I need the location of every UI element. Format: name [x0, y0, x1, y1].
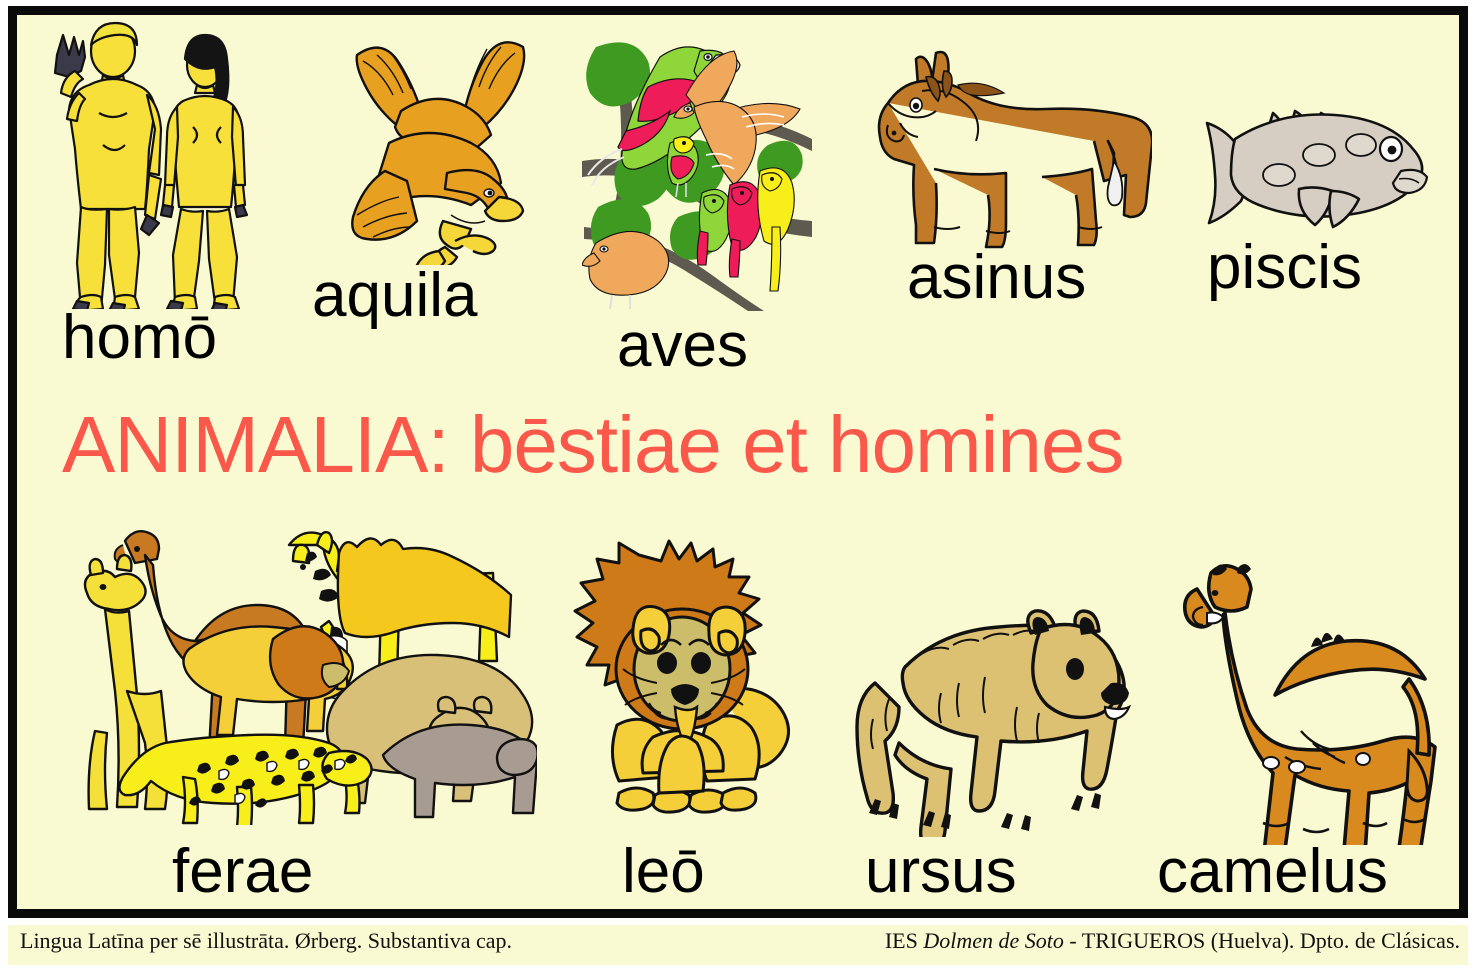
label-aves: aves [617, 315, 748, 377]
poster-frame: homō [8, 6, 1468, 918]
fish-illustration [1195, 105, 1435, 235]
birds-collage-illustration [582, 31, 812, 311]
label-ferae: ferae [172, 841, 313, 903]
page-title: ANIMALIA: bēstiae et homines [62, 405, 1452, 485]
label-ursus: ursus [865, 841, 1017, 903]
donkey-illustration [872, 41, 1152, 251]
eagle-illustration [327, 25, 557, 265]
lion-illustration [557, 537, 807, 837]
bear-illustration [849, 587, 1139, 837]
footer-institution-suffix: - TRIGUEROS (Huelva). Dpto. de Clásicas. [1064, 928, 1460, 953]
label-aquila: aquila [312, 265, 477, 327]
label-piscis: piscis [1207, 237, 1362, 299]
footer-source-credit: Lingua Latīna per sē illustrāta. Ørberg.… [20, 928, 512, 954]
footer-institution-name: Dolmen de Soto [923, 928, 1064, 953]
wild-animals-collage-illustration [67, 505, 537, 825]
footer-institution-credit: IES Dolmen de Soto - TRIGUEROS (Huelva).… [885, 928, 1460, 954]
label-leo: leō [622, 841, 705, 903]
poster-canvas: homō [0, 0, 1476, 968]
camel-illustration [1167, 555, 1437, 845]
label-asinus: asinus [907, 247, 1086, 309]
footer-institution-prefix: IES [885, 928, 924, 953]
label-camelus: camelus [1157, 841, 1388, 903]
human-figures-illustration [29, 19, 269, 309]
label-homo: homō [62, 307, 217, 369]
